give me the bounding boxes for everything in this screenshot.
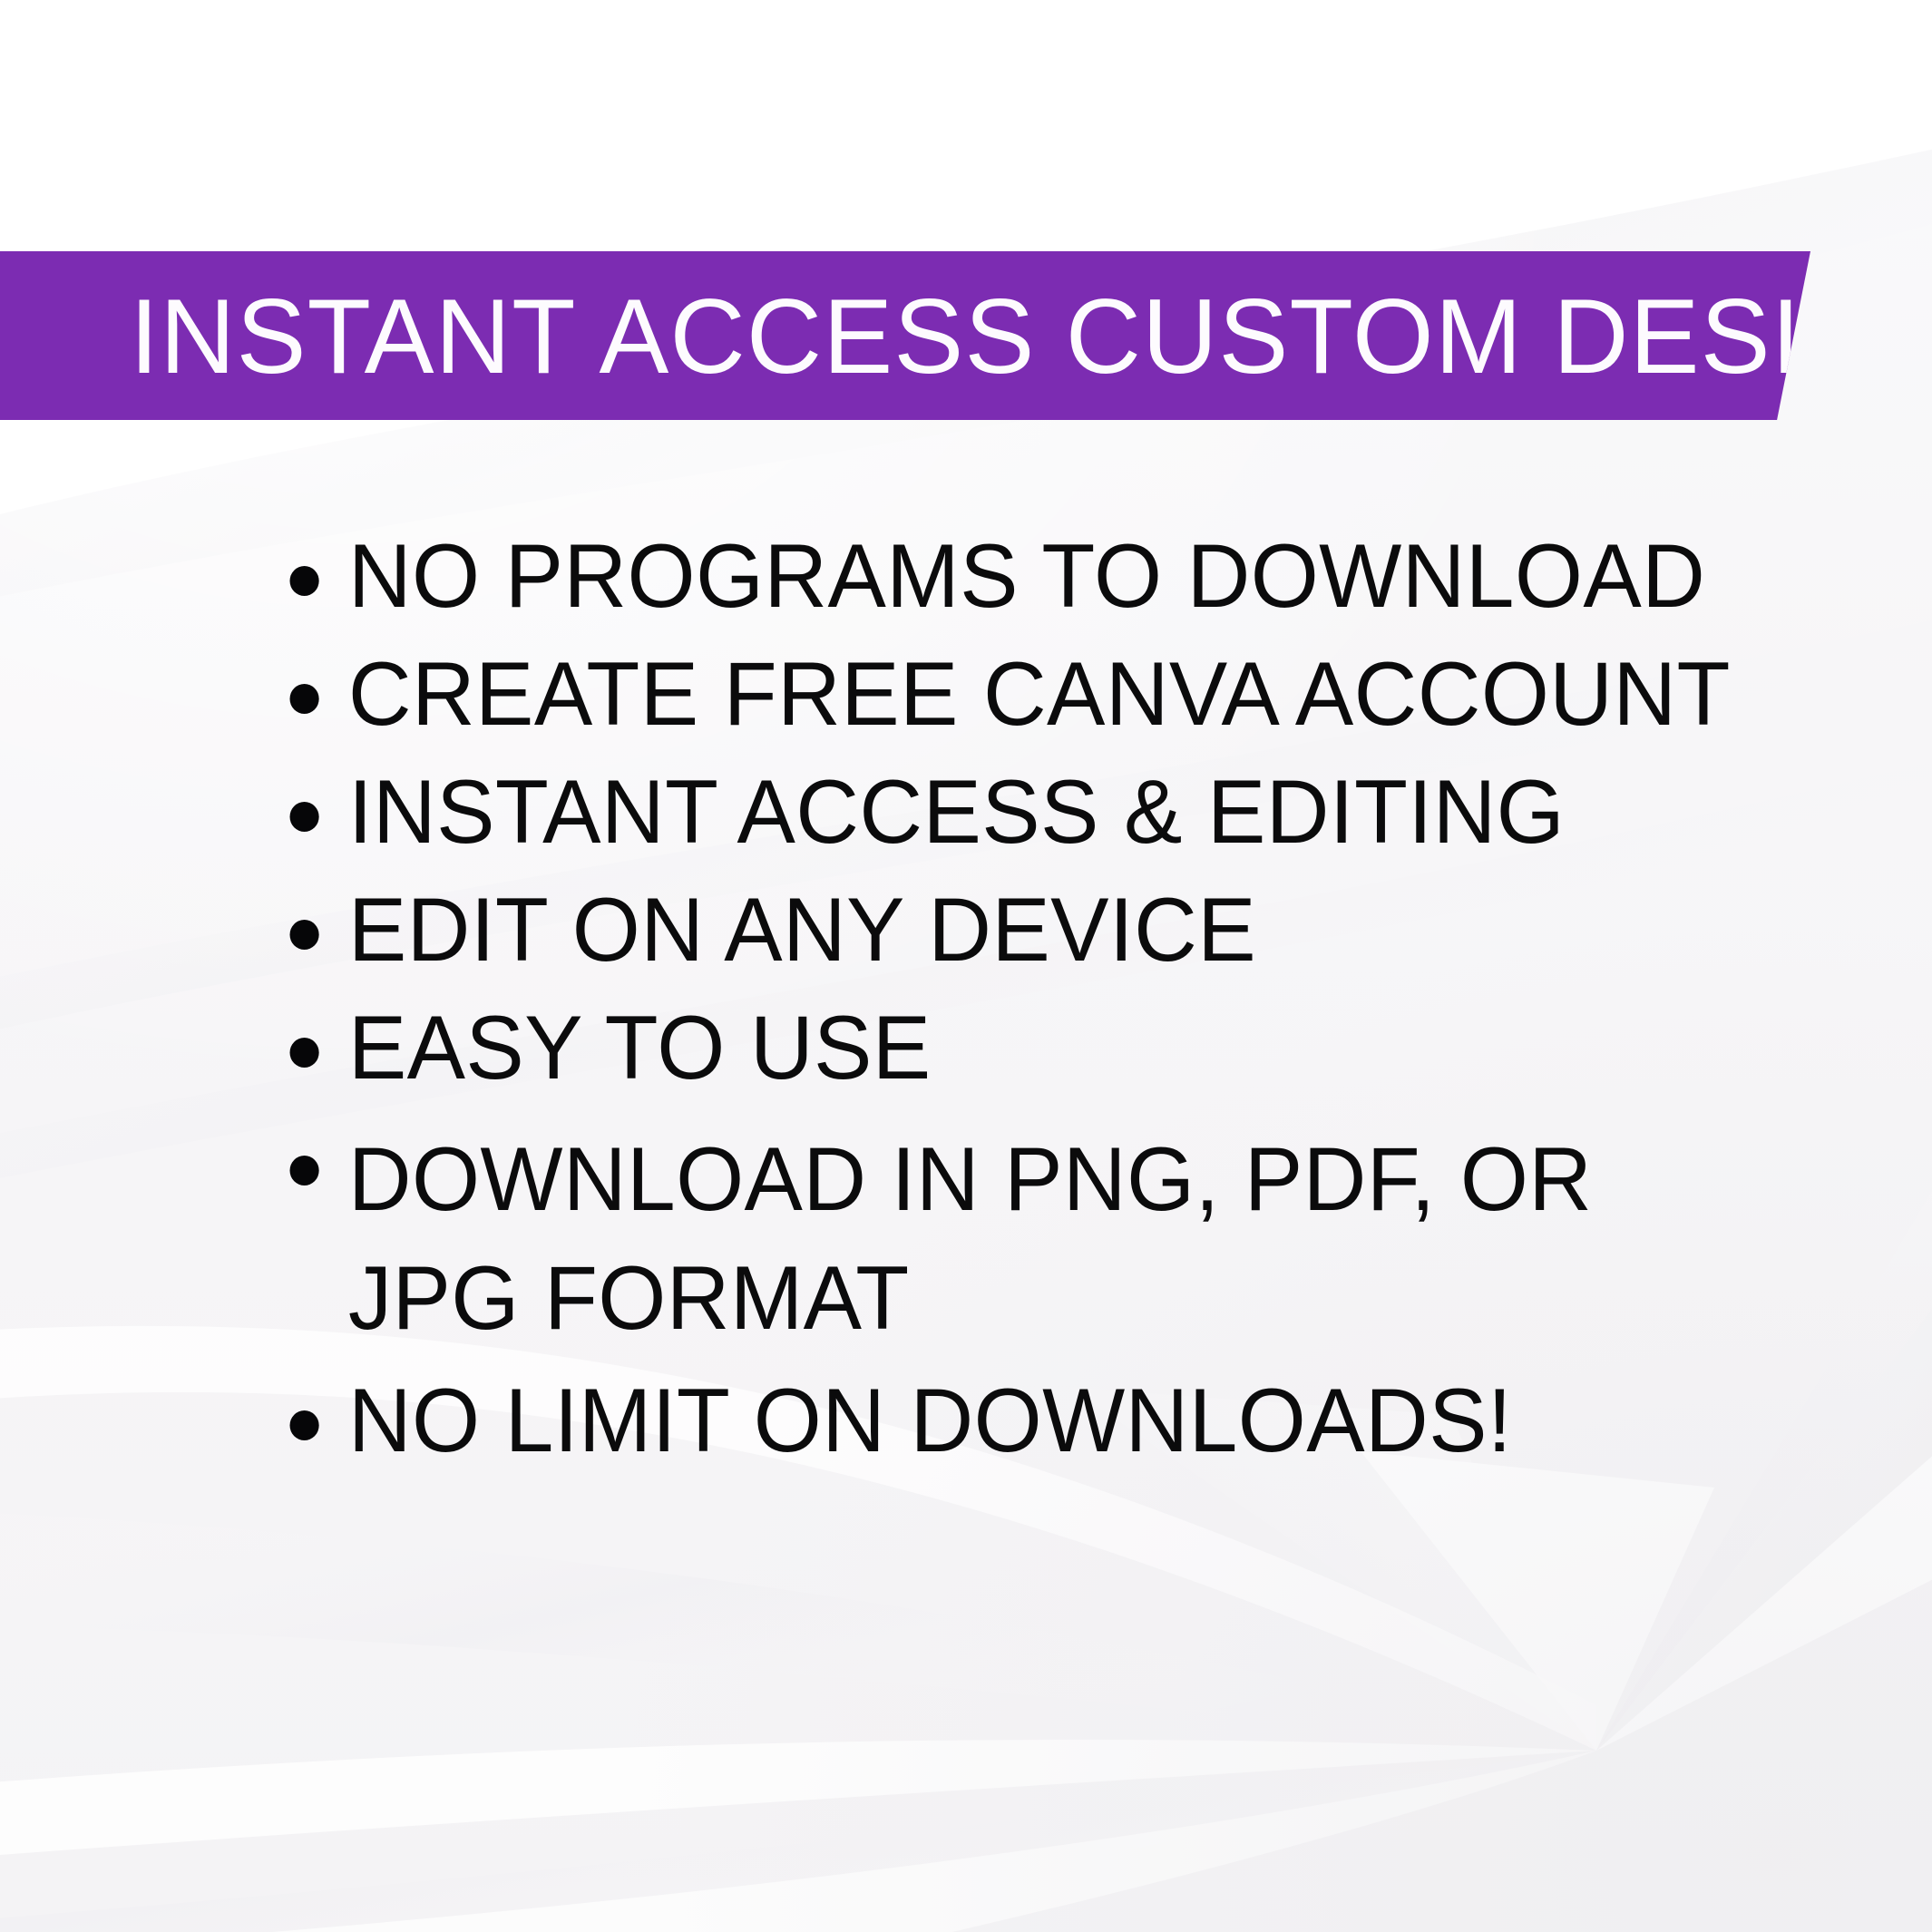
list-item-label: INSTANT ACCESS & EDITING [348,766,1776,856]
bullet-dot-icon [290,920,319,950]
list-item: EDIT ON ANY DEVICE [272,884,1776,974]
bullet-dot-icon [290,566,319,596]
list-item-label: CREATE FREE CANVA ACCOUNT [348,649,1776,738]
header-banner: INSTANT ACCESS CUSTOM DESIGNS [0,251,1810,420]
list-item-label: NO PROGRAMS TO DOWNLOAD [348,531,1776,620]
bullet-dot-icon [290,1410,319,1440]
feature-list: NO PROGRAMS TO DOWNLOAD CREATE FREE CANV… [272,531,1814,1493]
list-item-label: EDIT ON ANY DEVICE [348,884,1776,974]
list-item: INSTANT ACCESS & EDITING [272,766,1776,856]
banner-title: INSTANT ACCESS CUSTOM DESIGNS [130,283,1932,389]
list-item: CREATE FREE CANVA ACCOUNT [272,649,1776,738]
list-item: NO LIMIT ON DOWNLOADS! [272,1375,1776,1465]
promo-graphic-canvas: INSTANT ACCESS CUSTOM DESIGNS NO PROGRAM… [0,0,1932,1932]
bullet-dot-icon [290,684,319,714]
list-item: NO PROGRAMS TO DOWNLOAD [272,531,1776,620]
list-item: DOWNLOAD IN PNG, PDF, OR JPG FORMAT [272,1120,1776,1357]
bullet-dot-icon [290,1156,319,1186]
bullet-dot-icon [290,1038,319,1068]
bullet-dot-icon [290,802,319,832]
list-item: EASY TO USE [272,1002,1776,1092]
list-item-label: EASY TO USE [348,1002,1776,1092]
list-item-label: DOWNLOAD IN PNG, PDF, OR JPG FORMAT [348,1120,1776,1357]
list-item-label: NO LIMIT ON DOWNLOADS! [348,1375,1776,1465]
